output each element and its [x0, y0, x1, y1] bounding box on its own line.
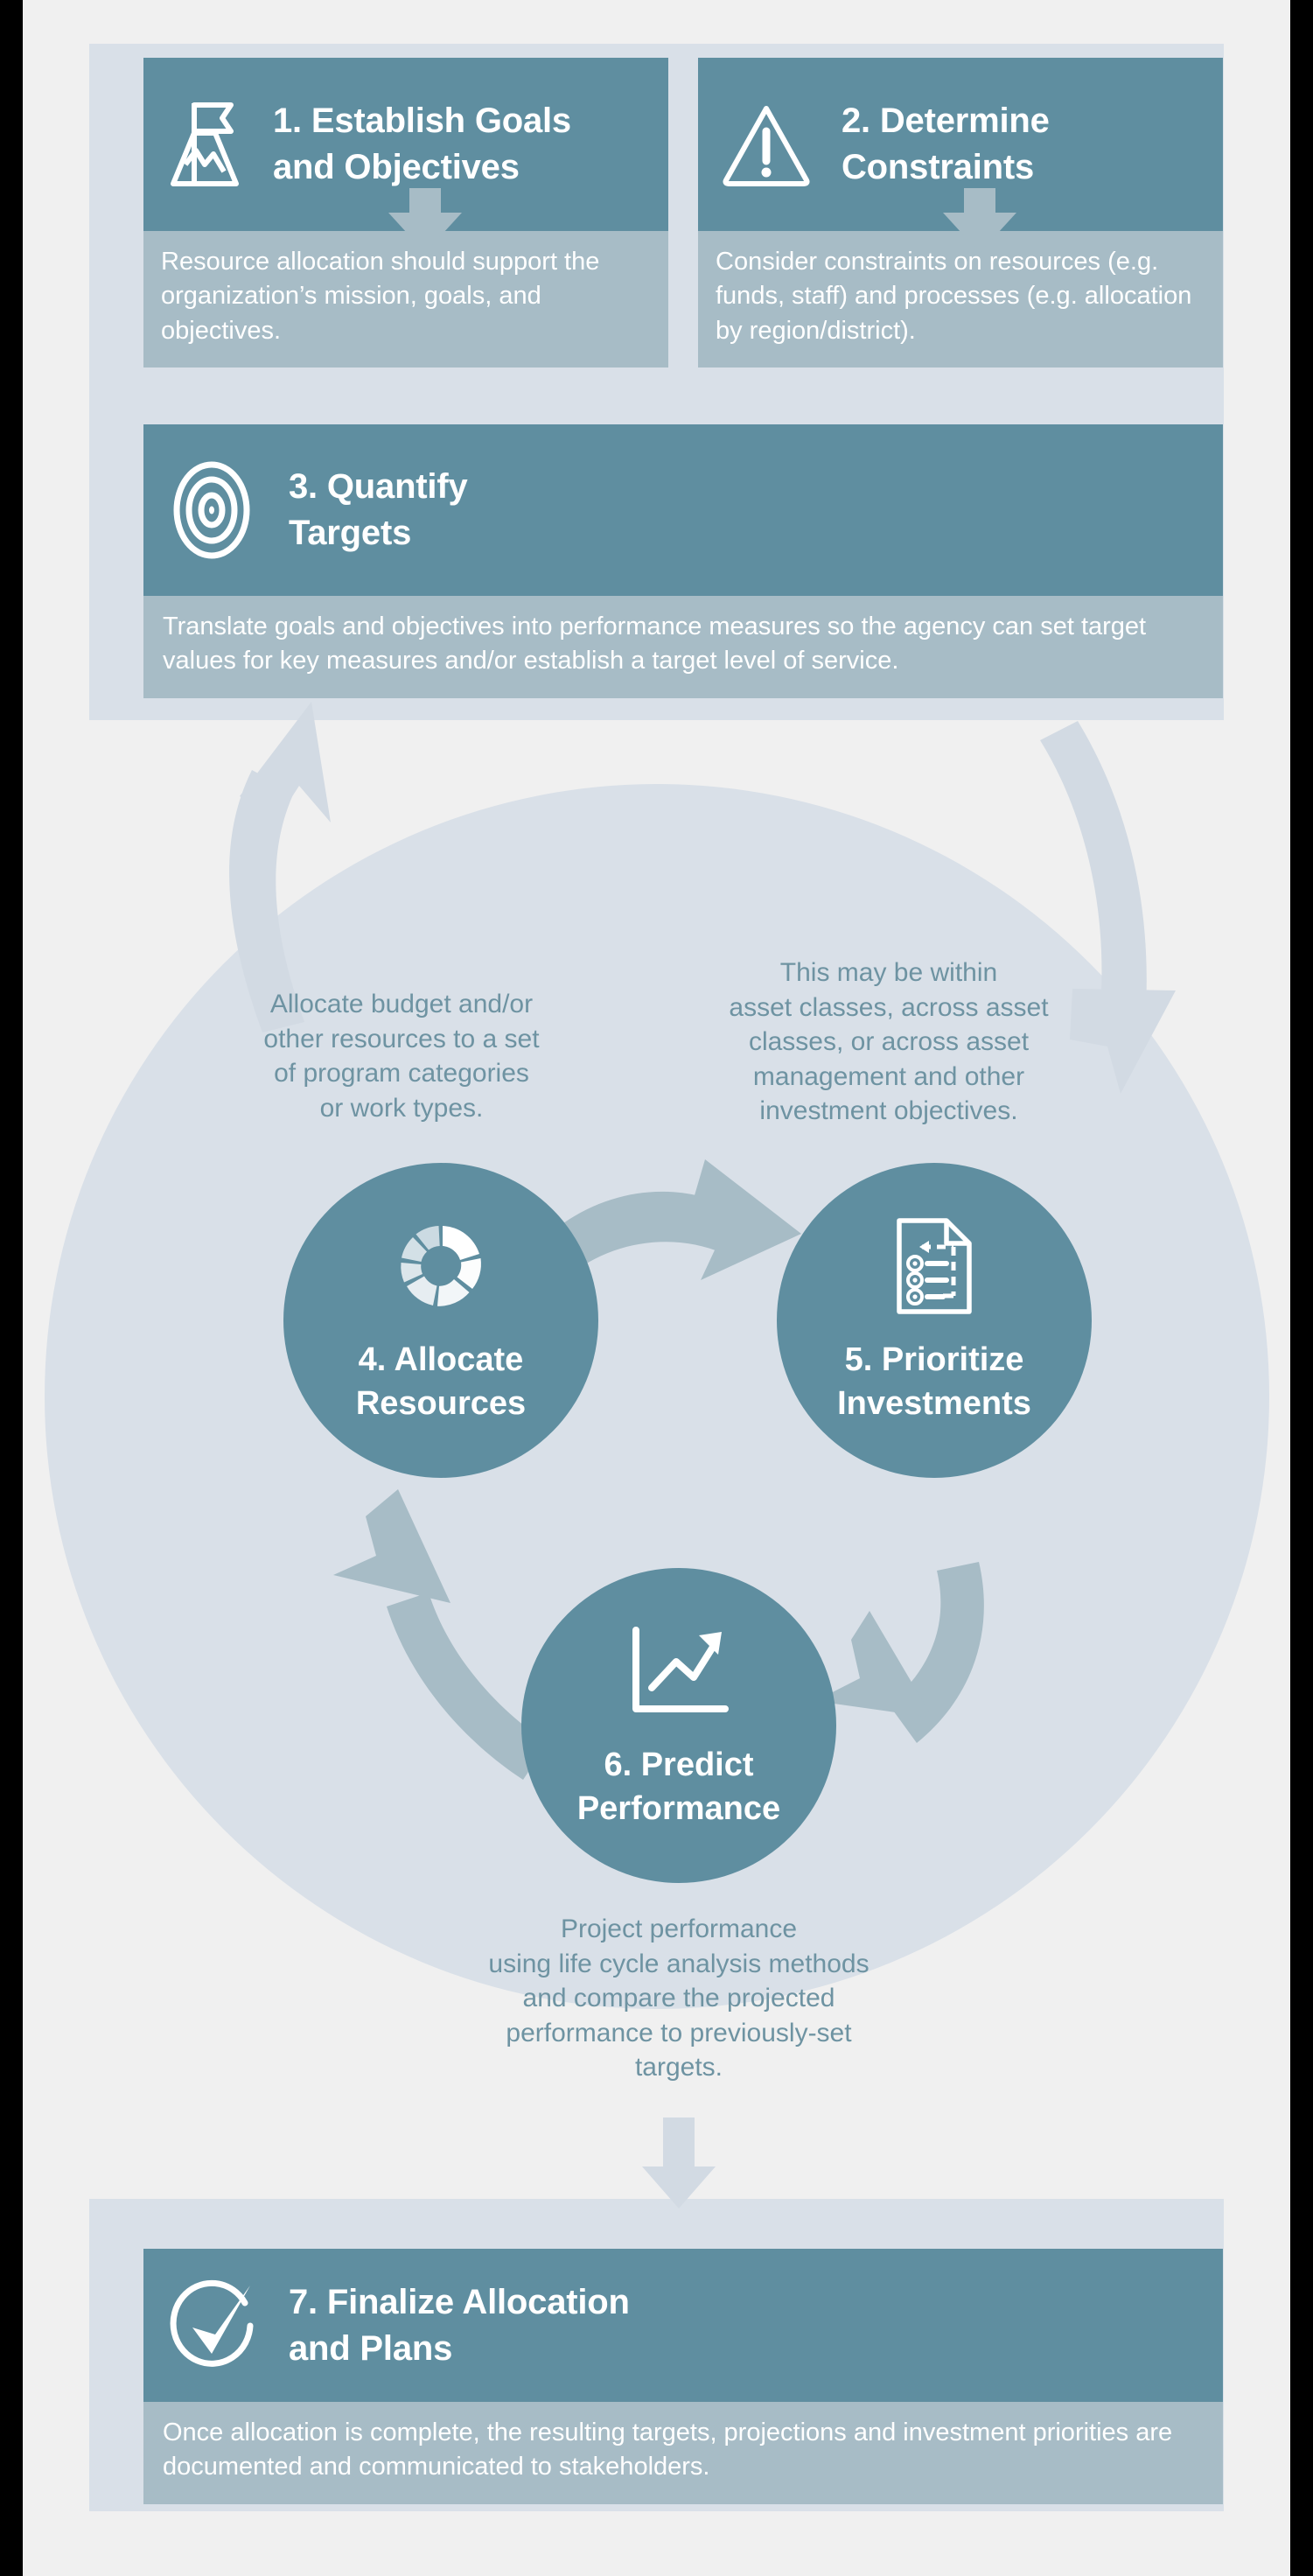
step-4-annotation: Allocate budget and/or other resources t… [213, 987, 590, 1125]
step-3-title: 3. QuantifyTargets [257, 464, 468, 556]
target-bullseye-icon [166, 458, 257, 563]
step-circle-4[interactable]: 4. AllocateResources [283, 1163, 598, 1478]
step-box-3[interactable]: 3. QuantifyTargets Translate goals and o… [143, 424, 1223, 698]
flag-mountain-icon [163, 96, 247, 192]
step-7-description: Once allocation is complete, the resulti… [143, 2402, 1223, 2504]
step-7-header: 7. Finalize Allocationand Plans [143, 2249, 1223, 2402]
step-7-title: 7. Finalize Allocationand Plans [264, 2279, 630, 2372]
check-circle-icon [166, 2277, 264, 2375]
priority-list-document-icon [892, 1214, 976, 1319]
diagram-inner-canvas: 1. Establish Goalsand Objectives Resourc… [23, 0, 1290, 2576]
line-chart-up-icon [627, 1619, 730, 1724]
arrow-step2-to-step3-icon [749, 188, 1274, 433]
step-3-description: Translate goals and objectives into perf… [143, 596, 1223, 698]
step-2-title: 2. DetermineConstraints [812, 98, 1050, 191]
step-6-label: 6. PredictPerformance [562, 1743, 796, 1830]
step-1-title: 1. Establish Goalsand Objectives [247, 98, 571, 191]
step-circle-6[interactable]: 6. PredictPerformance [521, 1568, 836, 1883]
step-4-label: 4. AllocateResources [340, 1338, 541, 1425]
step-5-label: 5. PrioritizeInvestments [821, 1338, 1047, 1425]
step-box-7[interactable]: 7. Finalize Allocationand Plans Once all… [143, 2249, 1223, 2504]
donut-chart-icon [392, 1214, 490, 1319]
step-6-annotation: Project performance using life cycle ana… [408, 1912, 950, 2085]
step-circle-5[interactable]: 5. PrioritizeInvestments [777, 1163, 1092, 1478]
step-3-header: 3. QuantifyTargets [143, 424, 1223, 596]
diagram-canvas: 1. Establish Goalsand Objectives Resourc… [0, 0, 1313, 2576]
step-5-annotation: This may be within asset classes, across… [714, 955, 1064, 1129]
warning-triangle-icon [721, 100, 812, 189]
arrow-step6-to-step7-icon [591, 2117, 766, 2249]
